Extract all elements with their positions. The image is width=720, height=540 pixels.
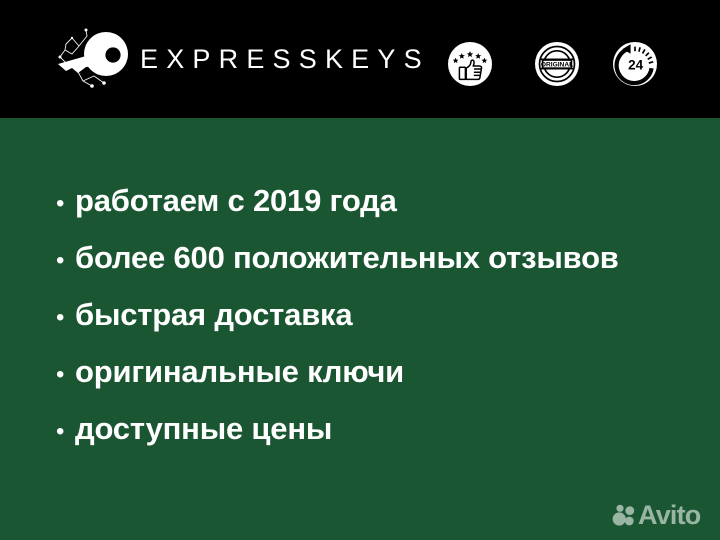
list-item: • доступные цены [56, 413, 696, 470]
brand-wordmark: EXPRESSKEYS [140, 46, 430, 73]
benefit-label: более 600 положительных отзывов [75, 242, 619, 273]
bullet-icon: • [56, 420, 75, 444]
list-item: • оригинальные ключи [56, 356, 696, 413]
benefits-list: • работаем с 2019 года • более 600 полож… [56, 185, 696, 470]
twentyfour-hours-label: 24 [628, 57, 644, 72]
brand-lockup: EXPRESSKEYS [56, 26, 430, 92]
list-item: • работаем с 2019 года [56, 185, 696, 242]
list-item: • быстрая доставка [56, 299, 696, 356]
avito-wordmark: Avito [638, 502, 701, 529]
twentyfour-hours-icon: 24 [612, 41, 658, 87]
benefit-label: доступные цены [75, 413, 332, 444]
key-logo-icon [56, 26, 130, 92]
original-seal-icon: ORIGINAL [534, 41, 580, 87]
benefit-label: оригинальные ключи [75, 356, 404, 387]
avito-watermark: Avito [612, 498, 701, 532]
bullet-icon: • [56, 363, 75, 387]
avito-dots-icon [612, 504, 635, 527]
bullet-icon: • [56, 306, 75, 330]
header-bar: EXPRESSKEYS [0, 0, 720, 118]
trust-badges: ORIGINAL [447, 41, 659, 87]
listing-image: EXPRESSKEYS [0, 0, 720, 540]
original-seal-label: ORIGINAL [541, 62, 573, 69]
thumbs-up-five-stars-icon [447, 41, 493, 87]
list-item: • более 600 положительных отзывов [56, 242, 696, 299]
bullet-icon: • [56, 192, 75, 216]
bullet-icon: • [56, 249, 75, 273]
benefits-panel: • работаем с 2019 года • более 600 полож… [0, 118, 720, 540]
benefit-label: работаем с 2019 года [75, 185, 397, 216]
benefit-label: быстрая доставка [75, 299, 352, 330]
